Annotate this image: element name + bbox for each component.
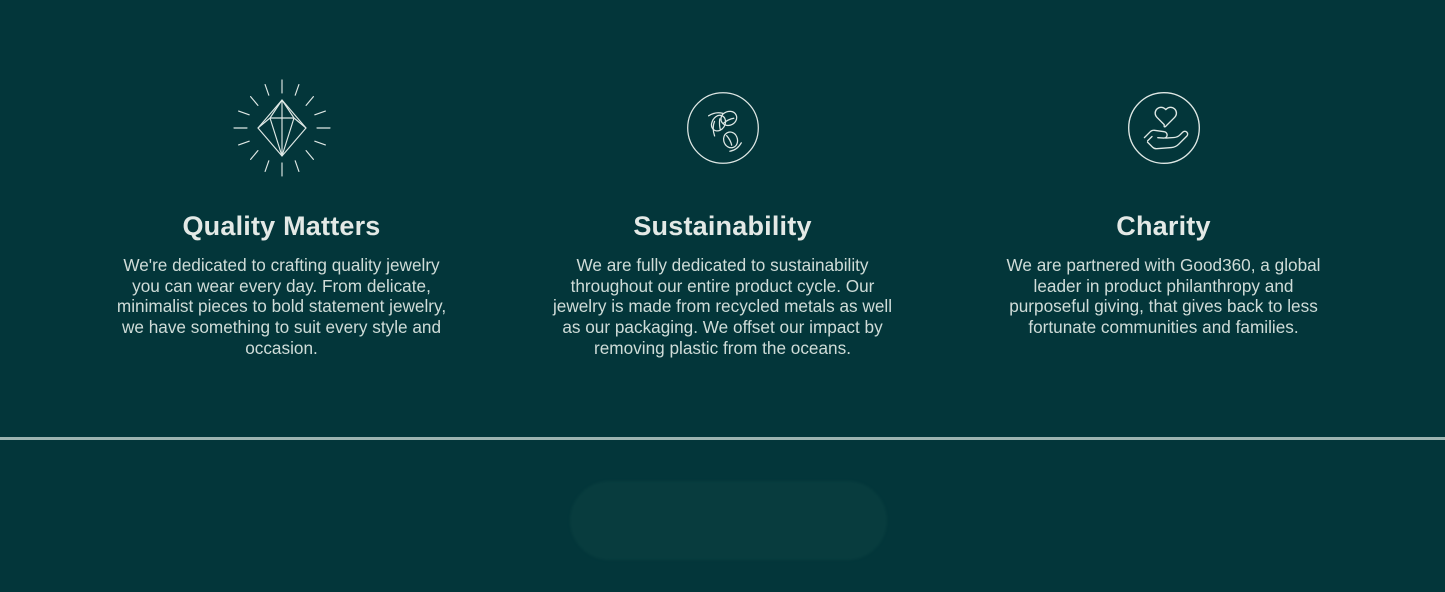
bottom-band [0,440,1445,592]
value-description: We are partnered with Good360, a global … [995,255,1333,338]
value-title: Quality Matters [182,210,380,244]
hand-heart-icon [1104,68,1224,188]
value-description: We are fully dedicated to sustainability… [544,255,902,359]
page-root: Quality Matters We're dedicated to craft… [0,0,1445,592]
diamond-sparkle-icon [222,68,342,188]
value-column-sustainability: Sustainability We are fully dedicated to… [502,0,943,359]
recycle-leaves-icon [663,68,783,188]
value-description: We're dedicated to crafting quality jewe… [110,255,454,359]
value-title: Sustainability [633,210,811,244]
content-placeholder-pill [570,481,887,560]
value-column-quality-matters: Quality Matters We're dedicated to craft… [61,0,502,359]
brand-values-section: Quality Matters We're dedicated to craft… [0,0,1445,437]
value-title: Charity [1116,210,1210,244]
value-column-charity: Charity We are partnered with Good360, a… [943,0,1384,338]
